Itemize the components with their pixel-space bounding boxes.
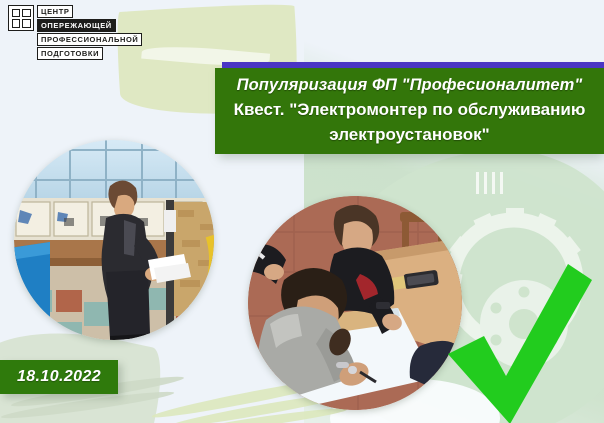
banner-line-1: Популяризация ФП "Професионалитет" — [237, 73, 583, 97]
photo-students-desks — [248, 196, 462, 410]
banner-line-3: электроустановок" — [329, 122, 489, 147]
logo-line-2: ОПЕРЕЖАЮЩЕЙ — [37, 19, 116, 32]
green-check-icon — [440, 262, 595, 423]
logo-line-4: ПОДГОТОВКИ — [37, 47, 103, 60]
title-banner: Популяризация ФП "Професионалитет" Квест… — [215, 68, 604, 154]
poster-root: ЦЕНТР ОПЕРЕЖАЮЩЕЙ ПРОФЕССИОНАЛЬНОЙ ПОДГО… — [0, 0, 604, 423]
four-squares-grid-icon — [8, 5, 34, 31]
grass-blade-3 — [188, 405, 348, 423]
photo-lecturer-classroom — [14, 140, 214, 340]
date-badge-label: 18.10.2022 — [17, 368, 101, 386]
hatch-lines-decoration — [476, 172, 512, 194]
logo-wordmark: ЦЕНТР ОПЕРЕЖАЮЩЕЙ ПРОФЕССИОНАЛЬНОЙ ПОДГО… — [37, 5, 142, 60]
logo-line-1: ЦЕНТР — [37, 5, 73, 18]
logo-line-3: ПРОФЕССИОНАЛЬНОЙ — [37, 33, 142, 46]
banner-line-2: Квест. "Электромонтер по обслуживанию — [234, 97, 586, 122]
date-badge: 18.10.2022 — [0, 360, 118, 394]
organization-logo: ЦЕНТР ОПЕРЕЖАЮЩЕЙ ПРОФЕССИОНАЛЬНОЙ ПОДГО… — [8, 5, 142, 60]
